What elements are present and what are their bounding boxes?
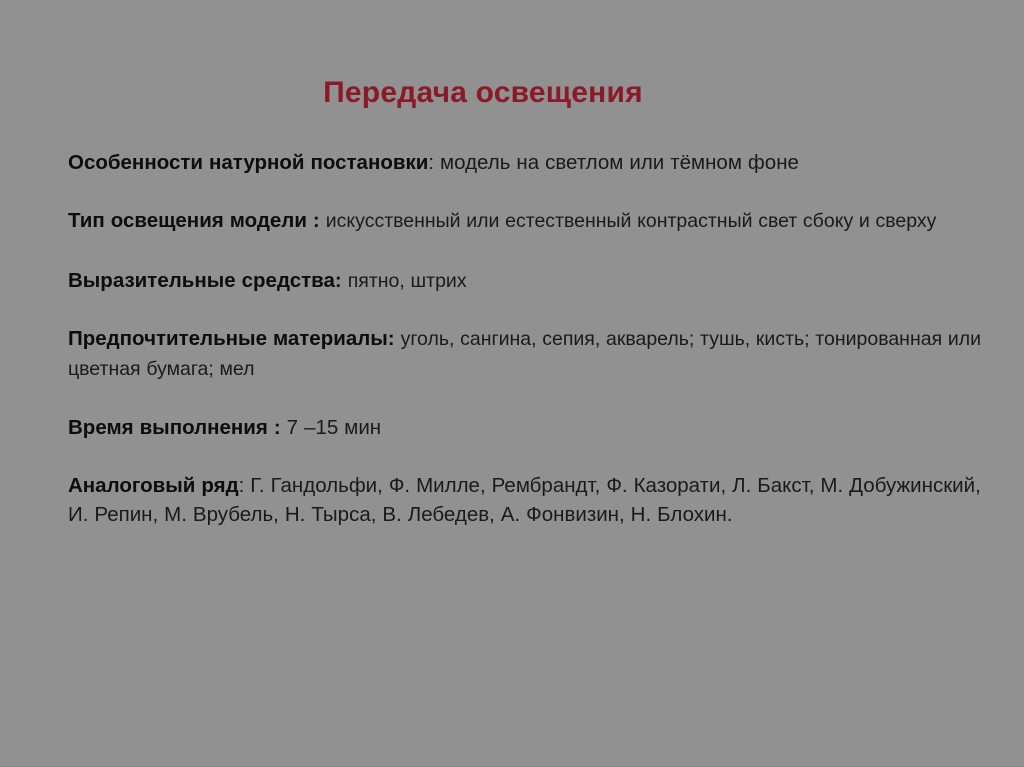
label-features: Особенности натурной постановки [68, 151, 428, 174]
value-expressive-means: пятно, штрих [348, 270, 467, 292]
label-lighting-type: Тип освещения модели : [68, 209, 320, 232]
text-block-analogous-series: Аналоговый ряд: Г. Гандольфи, Ф. Милле, … [68, 471, 993, 529]
text-block-preferred-materials: Предпочтительные материалы: уголь, санги… [68, 324, 993, 384]
value-lighting-type: искусственный или естественный контрастн… [326, 210, 937, 232]
text-block-expressive-means: Выразительные средства: пятно, штрих [68, 266, 993, 296]
label-preferred-materials: Предпочтительные материалы: [68, 327, 395, 350]
page-title: Передача освещения [0, 76, 1024, 110]
label-expressive-means: Выразительные средства: [68, 269, 342, 292]
value-execution-time: 7 –15 мин [287, 416, 381, 439]
text-block-execution-time: Время выполнения : 7 –15 мин [68, 413, 993, 442]
separator-analogous-series: : [239, 474, 251, 497]
label-analogous-series: Аналоговый ряд [68, 474, 239, 497]
slide-body: Особенности натурной постановки: модель … [68, 148, 993, 529]
value-features: модель на светлом или тёмном фоне [440, 151, 799, 174]
slide-canvas: Передача освещения Особенности натурной … [0, 0, 1024, 767]
text-block-lighting-type: Тип освещения модели : искусственный или… [68, 206, 993, 236]
text-block-features: Особенности натурной постановки: модель … [68, 148, 993, 177]
separator-features: : [428, 151, 440, 174]
label-execution-time: Время выполнения : [68, 416, 281, 439]
